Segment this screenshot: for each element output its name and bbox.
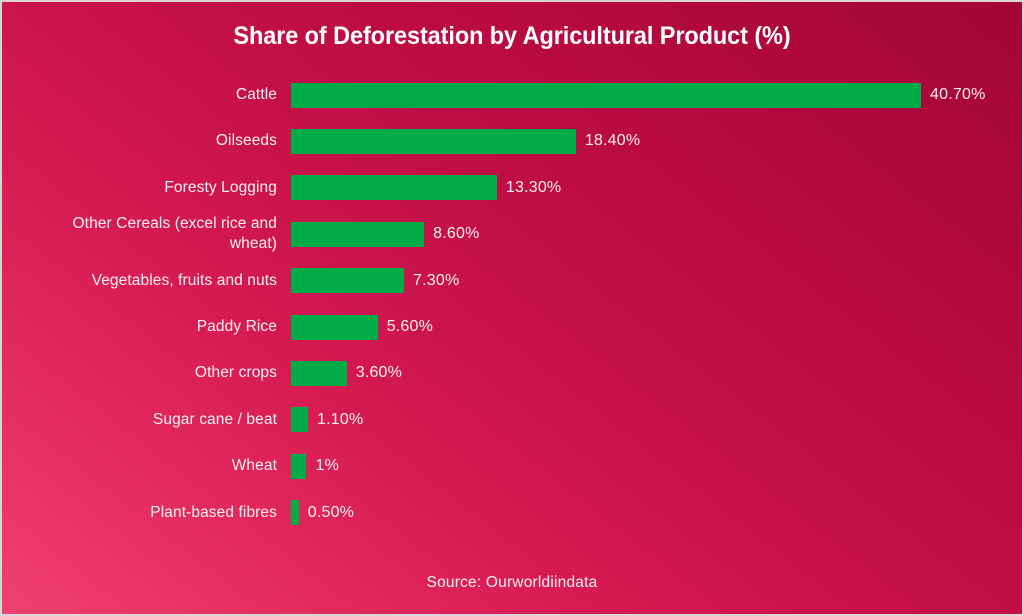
bar-value-label: 1.10% (308, 411, 363, 429)
bar[interactable] (291, 222, 424, 247)
bar-wrapper: 8.60% (291, 214, 1022, 254)
bar-row: Wheat1% (2, 446, 1022, 486)
category-label: Paddy Rice (2, 317, 291, 337)
bar[interactable] (291, 83, 921, 108)
chart-canvas: Share of Deforestation by Agricultural P… (0, 0, 1024, 616)
bar-row: Cattle40.70% (2, 75, 1022, 115)
bar-value-label: 18.40% (576, 132, 640, 150)
bar[interactable] (291, 500, 299, 525)
category-label: Wheat (2, 456, 291, 476)
bar[interactable] (291, 315, 378, 340)
bar-wrapper: 18.40% (291, 121, 1022, 161)
bar-row: Oilseeds18.40% (2, 121, 1022, 161)
bar-row: Paddy Rice5.60% (2, 307, 1022, 347)
bar[interactable] (291, 268, 404, 293)
bar-row: Plant-based fibres0.50% (2, 493, 1022, 533)
bar-wrapper: 13.30% (291, 168, 1022, 208)
bar-wrapper: 3.60% (291, 353, 1022, 393)
category-label: Vegetables, fruits and nuts (2, 271, 291, 291)
bar-wrapper: 7.30% (291, 261, 1022, 301)
bar-wrapper: 1.10% (291, 400, 1022, 440)
bar-row: Foresty Logging13.30% (2, 168, 1022, 208)
bar[interactable] (291, 454, 306, 479)
bar-value-label: 5.60% (378, 318, 433, 336)
bar-row: Vegetables, fruits and nuts7.30% (2, 261, 1022, 301)
bar-row: Other crops3.60% (2, 353, 1022, 393)
bar-value-label: 7.30% (404, 272, 459, 290)
category-label: Foresty Logging (2, 178, 291, 198)
bar-wrapper: 0.50% (291, 493, 1022, 533)
bar-value-label: 40.70% (921, 86, 985, 104)
bar[interactable] (291, 175, 497, 200)
bar[interactable] (291, 407, 308, 432)
bar-value-label: 0.50% (299, 504, 354, 522)
bar[interactable] (291, 361, 347, 386)
category-label: Other crops (2, 363, 291, 383)
bar-wrapper: 40.70% (291, 75, 1022, 115)
bar[interactable] (291, 129, 576, 154)
category-label: Sugar cane / beat (2, 410, 291, 430)
bar-wrapper: 5.60% (291, 307, 1022, 347)
bar-value-label: 1% (306, 457, 339, 475)
category-label: Other Cereals (excel rice and wheat) (2, 214, 291, 254)
category-label: Oilseeds (2, 131, 291, 151)
category-label: Cattle (2, 85, 291, 105)
plot-area: Cattle40.70%Oilseeds18.40%Foresty Loggin… (2, 73, 1022, 537)
bar-wrapper: 1% (291, 446, 1022, 486)
chart-title: Share of Deforestation by Agricultural P… (33, 22, 992, 51)
source-note: Source: Ourworldiindata (2, 574, 1022, 592)
bar-row: Other Cereals (excel rice and wheat)8.60… (2, 214, 1022, 254)
bar-row: Sugar cane / beat1.10% (2, 400, 1022, 440)
category-label: Plant-based fibres (2, 503, 291, 523)
bar-value-label: 8.60% (424, 225, 479, 243)
bar-value-label: 3.60% (347, 364, 402, 382)
bar-value-label: 13.30% (497, 179, 561, 197)
